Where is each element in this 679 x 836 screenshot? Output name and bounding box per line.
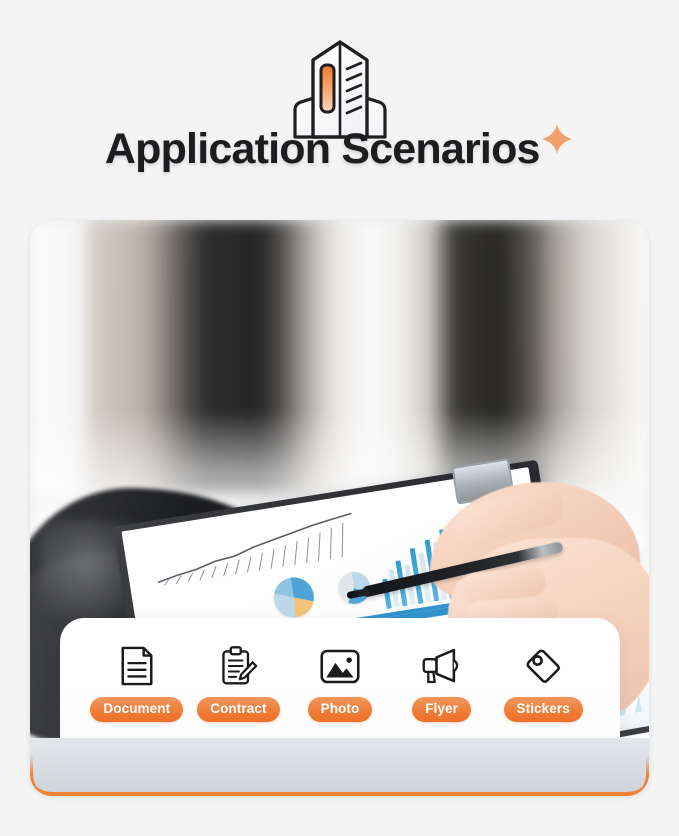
feature-item-photo[interactable]: Photo [289,644,391,722]
page-header: Application Scenarios [0,0,679,218]
feature-label-document: Document [90,697,183,722]
feature-item-flyer[interactable]: Flyer [391,644,493,722]
feature-label-flyer: Flyer [412,697,471,722]
report-line-chart [148,511,363,589]
panel-bottom-edge [30,738,649,796]
sparkle-icon [540,122,574,156]
image-icon [319,644,361,688]
clipboard-pen-icon [218,644,258,688]
page-title-row: Application Scenarios [0,128,679,171]
megaphone-icon [421,644,463,688]
feature-label-contract: Contract [197,697,279,722]
feature-label-photo: Photo [308,697,373,722]
feature-label-stickers: Stickers [504,697,583,722]
feature-item-document[interactable]: Document [86,644,188,722]
tag-icon [523,644,563,688]
report-pie-chart [271,575,317,621]
feature-item-stickers[interactable]: Stickers [492,644,594,722]
document-icon [118,644,156,688]
page-title: Application Scenarios [105,128,540,171]
feature-item-contract[interactable]: Contract [188,644,290,722]
